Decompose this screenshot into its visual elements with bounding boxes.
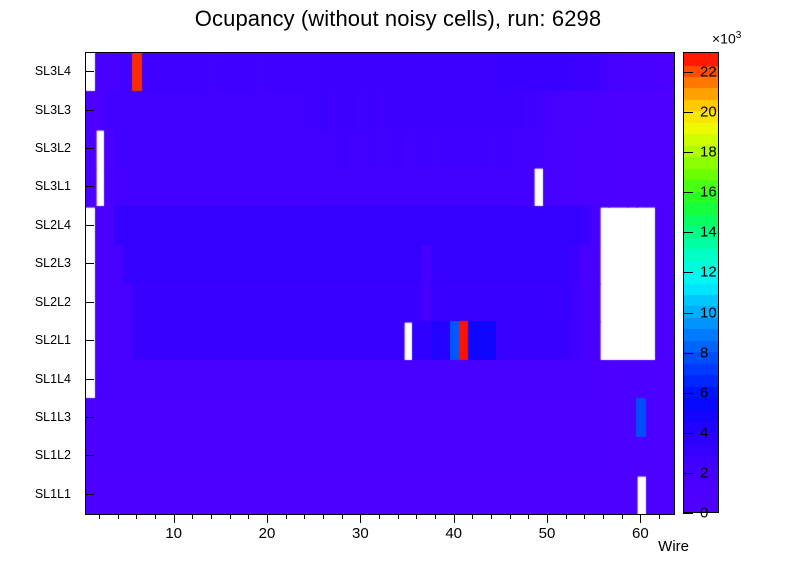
x-axis-major-tick — [360, 514, 361, 523]
x-axis-minor-tick — [99, 514, 100, 519]
x-axis-minor-tick — [659, 514, 660, 519]
root-canvas: Ocupancy (without noisy cells), run: 629… — [0, 0, 796, 572]
colorbar-label-10: 10 — [700, 304, 717, 321]
x-axis-minor-tick — [379, 514, 380, 519]
page-title: Ocupancy (without noisy cells), run: 629… — [0, 6, 796, 32]
y-axis: SL3L4SL3L3SL3L2SL3L1SL2L4SL2L3SL2L2SL2L1… — [0, 52, 81, 513]
x-axis-major-tick — [640, 514, 641, 523]
y-axis-tick — [85, 110, 94, 111]
y-axis-tick — [85, 494, 94, 495]
x-axis-major-tick — [454, 514, 455, 523]
x-axis-minor-tick — [155, 514, 156, 519]
colorbar-exponent-power: 3 — [736, 30, 742, 41]
y-axis-tick — [85, 148, 94, 149]
colorbar-label-14: 14 — [700, 224, 717, 241]
x-axis-minor-tick — [491, 514, 492, 519]
colorbar-tick — [683, 353, 693, 354]
y-axis-label-sl2l4: SL2L4 — [35, 218, 71, 232]
colorbar-label-18: 18 — [700, 144, 717, 161]
y-axis-tick — [85, 71, 94, 72]
colorbar-label-6: 6 — [700, 384, 708, 401]
colorbar-tick — [683, 393, 693, 394]
x-axis-minor-tick — [230, 514, 231, 519]
colorbar[interactable] — [683, 52, 719, 513]
x-axis-minor-tick — [342, 514, 343, 519]
colorbar-gradient — [684, 53, 718, 512]
y-axis-label-sl3l1: SL3L1 — [35, 179, 71, 193]
x-axis-minor-tick — [286, 514, 287, 519]
x-axis-major-tick — [267, 514, 268, 523]
colorbar-label-22: 22 — [700, 64, 717, 81]
y-axis-label-sl3l2: SL3L2 — [35, 141, 71, 155]
colorbar-label-16: 16 — [700, 184, 717, 201]
y-axis-tick — [85, 263, 94, 264]
y-axis-label-sl2l1: SL2L1 — [35, 333, 71, 347]
x-axis-minor-tick — [472, 514, 473, 519]
y-axis-tick — [85, 417, 94, 418]
y-axis-tick — [85, 302, 94, 303]
colorbar-label-0: 0 — [700, 505, 708, 522]
colorbar-tick — [683, 313, 693, 314]
x-axis-minor-tick — [118, 514, 119, 519]
colorbar-tick — [683, 232, 693, 233]
x-axis-minor-tick — [622, 514, 623, 519]
colorbar-label-4: 4 — [700, 424, 708, 441]
y-axis-label-sl1l1: SL1L1 — [35, 487, 71, 501]
x-axis-minor-tick — [528, 514, 529, 519]
y-axis-tick — [85, 225, 94, 226]
x-axis-title: Wire — [0, 538, 689, 555]
y-axis-label-sl1l2: SL1L2 — [35, 448, 71, 462]
x-axis-major-tick — [547, 514, 548, 523]
x-axis-minor-tick — [566, 514, 567, 519]
x-axis-minor-tick — [435, 514, 436, 519]
x-axis-minor-tick — [323, 514, 324, 519]
y-axis-label-sl3l4: SL3L4 — [35, 64, 71, 78]
colorbar-exponent-base: ×10 — [712, 31, 736, 47]
y-axis-label-sl3l3: SL3L3 — [35, 103, 71, 117]
x-axis-minor-tick — [603, 514, 604, 519]
colorbar-tick — [683, 272, 693, 273]
colorbar-tick — [683, 513, 693, 514]
x-axis-minor-tick — [398, 514, 399, 519]
colorbar-tick — [683, 152, 693, 153]
x-axis-minor-tick — [192, 514, 193, 519]
x-axis-minor-tick — [304, 514, 305, 519]
y-axis-label-sl1l3: SL1L3 — [35, 410, 71, 424]
x-axis-minor-tick — [136, 514, 137, 519]
y-axis-label-sl1l4: SL1L4 — [35, 372, 71, 386]
y-axis-label-sl2l2: SL2L2 — [35, 295, 71, 309]
heatmap-plot-area[interactable] — [85, 52, 675, 515]
y-axis-label-sl2l3: SL2L3 — [35, 256, 71, 270]
x-axis-minor-tick — [416, 514, 417, 519]
x-axis-major-tick — [174, 514, 175, 523]
colorbar-label-12: 12 — [700, 264, 717, 281]
colorbar-tick — [683, 72, 693, 73]
colorbar-tick — [683, 473, 693, 474]
colorbar-label-2: 2 — [700, 464, 708, 481]
y-axis-tick — [85, 455, 94, 456]
x-axis: 102030405060 — [85, 514, 674, 515]
y-axis-tick — [85, 379, 94, 380]
x-axis-minor-tick — [248, 514, 249, 519]
y-axis-tick — [85, 340, 94, 341]
colorbar-tick — [683, 433, 693, 434]
colorbar-label-8: 8 — [700, 344, 708, 361]
colorbar-exponent: ×103 — [712, 30, 741, 47]
heatmap-canvas[interactable] — [86, 53, 674, 514]
x-axis-minor-tick — [510, 514, 511, 519]
x-axis-minor-tick — [211, 514, 212, 519]
y-axis-tick — [85, 186, 94, 187]
colorbar-label-20: 20 — [700, 104, 717, 121]
colorbar-tick — [683, 112, 693, 113]
colorbar-tick — [683, 192, 693, 193]
x-axis-minor-tick — [584, 514, 585, 519]
